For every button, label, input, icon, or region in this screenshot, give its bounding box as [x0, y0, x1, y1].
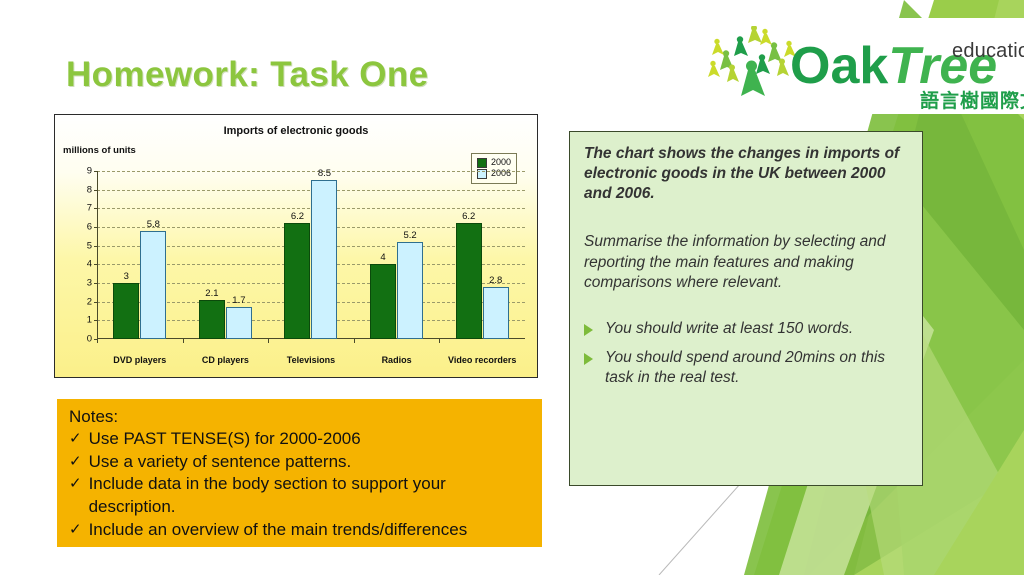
triangle-bullet-icon — [584, 353, 593, 365]
y-tick-label: 3 — [87, 278, 92, 289]
slide: Homework: Task One — [0, 0, 1024, 575]
bar-group: 6.22.8 — [439, 171, 525, 339]
bar-chart: Imports of electronic goods millions of … — [54, 114, 538, 378]
task-description-box: The chart shows the changes in imports o… — [569, 131, 923, 486]
notes-item-text: Use a variety of sentence patterns. — [89, 451, 352, 474]
notes-list: ✓Use PAST TENSE(S) for 2000-2006✓Use a v… — [69, 428, 530, 542]
chart-x-tick-labels: DVD playersCD playersTelevisionsRadiosVi… — [97, 355, 525, 365]
y-tick-label: 5 — [87, 240, 92, 251]
x-tick-label: Video recorders — [439, 355, 525, 365]
x-tick-mark — [183, 339, 184, 343]
notes-box: Notes: ✓Use PAST TENSE(S) for 2000-2006✓… — [57, 399, 542, 547]
logo-oak: Oak — [790, 37, 888, 95]
task-bullet-text: You should spend around 20mins on this t… — [605, 348, 908, 388]
bar-value-label: 8.5 — [318, 168, 331, 179]
notes-item: ✓Include data in the body section to sup… — [69, 473, 530, 519]
bar-value-label: 3 — [124, 271, 129, 282]
y-tick-label: 4 — [87, 259, 92, 270]
chart-title: Imports of electronic goods — [55, 125, 537, 137]
bar-value-label: 2.1 — [205, 288, 218, 299]
bar-value-label: 5.8 — [147, 219, 160, 230]
y-tick-label: 9 — [87, 166, 92, 177]
check-mark-icon: ✓ — [69, 428, 82, 450]
bar-group: 2.11.7 — [183, 171, 269, 339]
legend-item-2000: 2000 — [477, 157, 511, 168]
x-tick-label: CD players — [183, 355, 269, 365]
x-tick-label: DVD players — [97, 355, 183, 365]
task-p1-part-e: . — [650, 185, 654, 202]
logo-education-text: education — [952, 40, 1024, 63]
chart-y-axis-label: millions of units — [63, 145, 136, 156]
bar-value-label: 6.2 — [291, 211, 304, 222]
logo: OakTree education 語言樹國際文教 — [690, 18, 1024, 114]
bar-2000-radios: 4 — [370, 264, 396, 339]
bar-2006-cd-players: 1.7 — [226, 307, 252, 339]
check-mark-icon: ✓ — [69, 451, 82, 473]
task-p1-year-2000: 2000 — [851, 165, 885, 182]
x-tick-mark — [97, 339, 98, 343]
x-tick-mark — [268, 339, 269, 343]
page-title: Homework: Task One — [66, 55, 428, 95]
legend-swatch-2000 — [477, 158, 487, 168]
notes-item-text: Use PAST TENSE(S) for 2000-2006 — [89, 428, 361, 451]
x-tick-label: Televisions — [268, 355, 354, 365]
notes-item: ✓Use a variety of sentence patterns. — [69, 451, 530, 474]
tree-of-people-icon — [704, 26, 800, 108]
logo-chinese-text: 語言樹國際文教 — [920, 86, 1024, 113]
x-tick-label: Radios — [354, 355, 440, 365]
y-tick-label: 7 — [87, 203, 92, 214]
task-paragraph-1: The chart shows the changes in imports o… — [584, 144, 908, 204]
bar-2006-video-recorders: 2.8 — [483, 287, 509, 339]
x-tick-mark — [439, 339, 440, 343]
task-paragraph-2: Summarise the information by selecting a… — [584, 232, 908, 292]
bar-2006-televisions: 8.5 — [311, 180, 337, 339]
y-tick-label: 8 — [87, 184, 92, 195]
notes-item: ✓Include an overview of the main trends/… — [69, 519, 530, 542]
bar-group: 45.2 — [354, 171, 440, 339]
task-bullet-list: You should write at least 150 words.You … — [584, 319, 908, 387]
bar-2000-video-recorders: 6.2 — [456, 223, 482, 339]
bar-2000-cd-players: 2.1 — [199, 300, 225, 339]
bar-value-label: 5.2 — [403, 230, 416, 241]
chart-plot-area: 9876543210 35.82.11.76.28.545.26.22.8 — [97, 171, 525, 339]
notes-heading: Notes: — [69, 406, 530, 428]
notes-item-text: Include an overview of the main trends/d… — [89, 519, 468, 542]
notes-item: ✓Use PAST TENSE(S) for 2000-2006 — [69, 428, 530, 451]
triangle-bullet-icon — [584, 324, 593, 336]
bar-2000-dvd-players: 3 — [113, 283, 139, 339]
bar-2000-televisions: 6.2 — [284, 223, 310, 339]
bar-group: 6.28.5 — [268, 171, 354, 339]
bar-2006-dvd-players: 5.8 — [140, 231, 166, 339]
legend-label-2000: 2000 — [491, 157, 511, 168]
check-mark-icon: ✓ — [69, 519, 82, 541]
notes-item-text: Include data in the body section to supp… — [89, 473, 530, 519]
spacer — [584, 204, 908, 232]
x-tick-mark — [354, 339, 355, 343]
check-mark-icon: ✓ — [69, 473, 82, 495]
task-p1-year-2006: 2006 — [616, 185, 650, 202]
task-bullet-text: You should write at least 150 words. — [605, 319, 853, 339]
task-bullet-item: You should write at least 150 words. — [584, 319, 908, 339]
y-tick-label: 2 — [87, 296, 92, 307]
y-tick-label: 1 — [87, 315, 92, 326]
chart-bar-groups: 35.82.11.76.28.545.26.22.8 — [97, 171, 525, 339]
bar-2006-radios: 5.2 — [397, 242, 423, 339]
bar-group: 35.8 — [97, 171, 183, 339]
y-tick-label: 6 — [87, 222, 92, 233]
bar-value-label: 6.2 — [462, 211, 475, 222]
task-p1-part-c: and — [584, 185, 616, 202]
task-bullet-item: You should spend around 20mins on this t… — [584, 348, 908, 388]
bar-value-label: 2.8 — [489, 275, 502, 286]
spacer-2 — [584, 293, 908, 319]
y-tick-label: 0 — [87, 334, 92, 345]
bar-value-label: 1.7 — [232, 295, 245, 306]
bar-value-label: 4 — [380, 252, 385, 263]
